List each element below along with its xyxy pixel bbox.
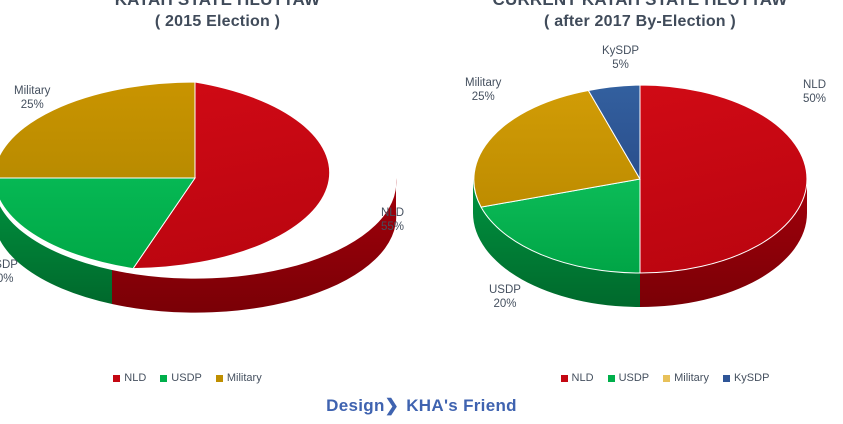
right-label-nld: NLD 50%: [803, 78, 826, 107]
left-label-nld: NLD 55%: [381, 206, 404, 235]
credit-text: KHA's Friend: [406, 396, 517, 415]
right-label-kysdp-pct: 5%: [602, 58, 639, 72]
legend-swatch-nld-icon: [113, 375, 120, 382]
legend-item: USDP: [160, 372, 202, 384]
legend-label: Military: [227, 372, 262, 384]
legend-swatch-usdp-icon: [608, 375, 615, 382]
legend-item: NLD: [113, 372, 146, 384]
legend-swatch-usdp-icon: [160, 375, 167, 382]
legend-label: KySDP: [734, 372, 769, 384]
legend-label: USDP: [619, 372, 650, 384]
legend-item: Military: [663, 372, 709, 384]
left-label-nld-pct: 55%: [381, 220, 404, 234]
right-label-usdp-pct: 20%: [489, 297, 521, 311]
right-label-kysdp: KySDP 5%: [602, 44, 639, 73]
left-pie-chart: [0, 60, 410, 360]
legend-item: KySDP: [723, 372, 769, 384]
right-label-military-pct: 25%: [465, 90, 501, 104]
left-label-usdp-pct: 20%: [0, 272, 18, 286]
left-label-usdp-name: USDP: [0, 258, 18, 272]
left-chart-title-main: KAYAH STATE HLUTTAW: [15, 0, 420, 9]
right-label-usdp-name: USDP: [489, 283, 521, 297]
legend-item: NLD: [561, 372, 594, 384]
left-label-military-name: Military: [14, 84, 50, 98]
right-label-military: Military 25%: [465, 76, 501, 105]
left-label-nld-name: NLD: [381, 206, 404, 220]
right-chart-title: CURRENT KAYAH STATE HLUTTAW ( after 2017…: [440, 0, 840, 31]
right-label-nld-name: NLD: [803, 78, 826, 92]
left-label-usdp: USDP 20%: [0, 258, 18, 287]
legend-swatch-military-icon: [216, 375, 223, 382]
legend-item: USDP: [608, 372, 650, 384]
right-label-usdp: USDP 20%: [489, 283, 521, 312]
right-label-military-name: Military: [465, 76, 501, 90]
legend-swatch-nld-icon: [561, 375, 568, 382]
design-credit: Design❯ KHA's Friend: [0, 396, 843, 416]
legend-label: NLD: [572, 372, 594, 384]
right-chart-legend: NLD USDP Military KySDP: [540, 372, 790, 384]
legend-label: Military: [674, 372, 709, 384]
legend-swatch-military-icon: [663, 375, 670, 382]
left-chart-title: KAYAH STATE HLUTTAW ( 2015 Election ): [15, 0, 420, 31]
legend-label: USDP: [171, 372, 202, 384]
legend-label: NLD: [124, 372, 146, 384]
left-pie-svg: [0, 60, 410, 360]
right-chart-title-main: CURRENT KAYAH STATE HLUTTAW: [440, 0, 840, 9]
legend-item: Military: [216, 372, 262, 384]
left-label-military-pct: 25%: [14, 98, 50, 112]
left-chart-legend: NLD USDP Military: [60, 372, 315, 384]
chevron-right-icon: ❯: [385, 396, 400, 415]
credit-prefix: Design: [326, 396, 384, 415]
left-label-military: Military 25%: [14, 84, 50, 113]
right-label-kysdp-name: KySDP: [602, 44, 639, 58]
right-label-nld-pct: 50%: [803, 92, 826, 106]
right-chart-title-sub: ( after 2017 By-Election ): [440, 13, 840, 30]
legend-swatch-kysdp-icon: [723, 375, 730, 382]
left-chart-title-sub: ( 2015 Election ): [15, 13, 420, 30]
chart-canvas: KAYAH STATE HLUTTAW ( 2015 Election ) CU…: [0, 0, 843, 424]
